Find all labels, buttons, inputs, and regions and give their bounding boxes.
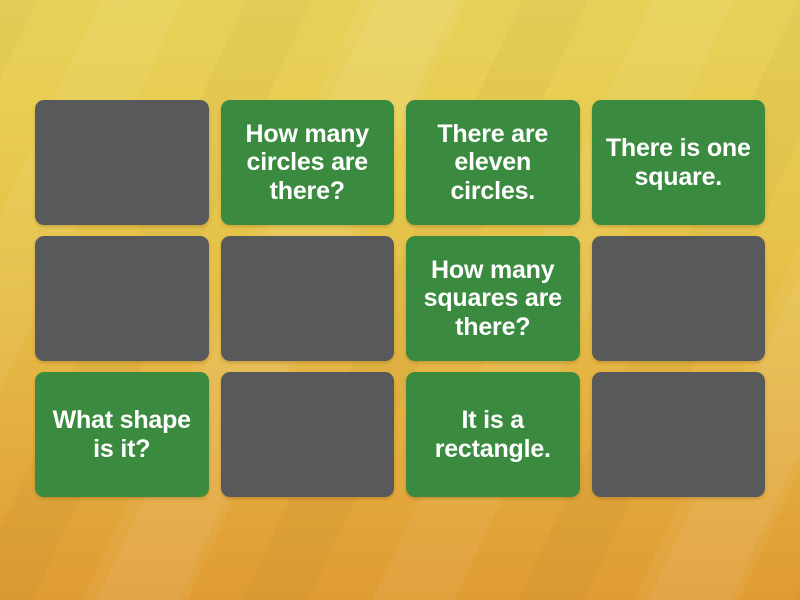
matching-pairs-card-grid: How many circles are there? There are el… xyxy=(35,100,765,497)
card-11[interactable]: It is a rectangle. xyxy=(406,372,580,497)
card-3[interactable]: There are eleven circles. xyxy=(406,100,580,225)
card-5[interactable] xyxy=(35,236,209,361)
card-11-label: It is a rectangle. xyxy=(414,406,572,463)
card-9[interactable]: What shape is it? xyxy=(35,372,209,497)
card-4-label: There is one square. xyxy=(600,134,758,191)
card-7-label: How many squares are there? xyxy=(414,256,572,341)
card-3-label: There are eleven circles. xyxy=(414,120,572,205)
card-9-label: What shape is it? xyxy=(43,406,201,463)
card-8[interactable] xyxy=(592,236,766,361)
card-12[interactable] xyxy=(592,372,766,497)
card-7[interactable]: How many squares are there? xyxy=(406,236,580,361)
card-2-label: How many circles are there? xyxy=(229,120,387,205)
card-10[interactable] xyxy=(221,372,395,497)
card-4[interactable]: There is one square. xyxy=(592,100,766,225)
card-6[interactable] xyxy=(221,236,395,361)
card-2[interactable]: How many circles are there? xyxy=(221,100,395,225)
card-1[interactable] xyxy=(35,100,209,225)
